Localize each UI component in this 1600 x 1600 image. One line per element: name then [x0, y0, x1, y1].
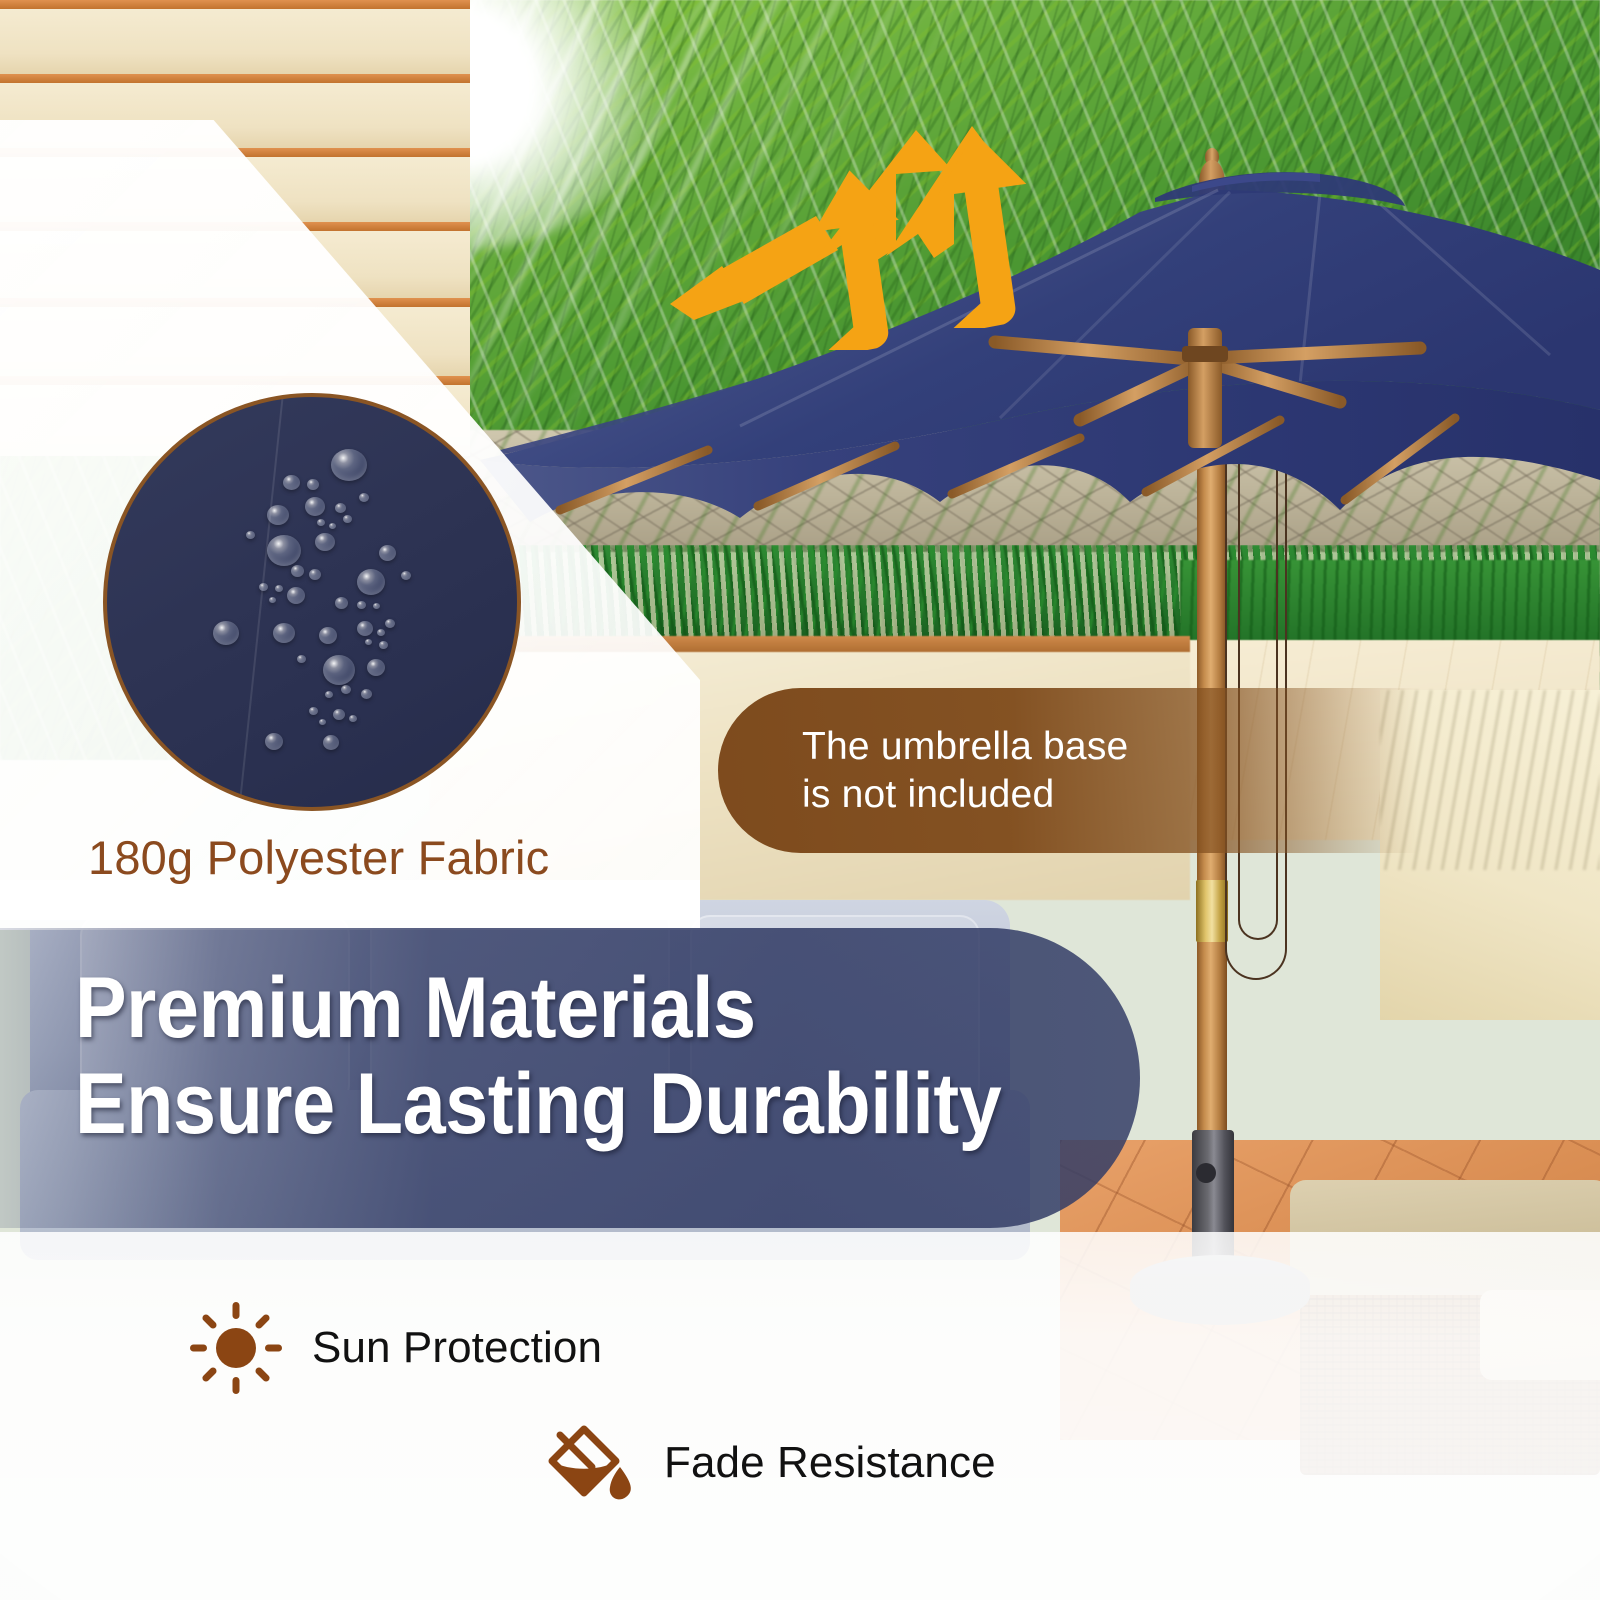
fabric-detail-circle [103, 393, 521, 811]
fabric-badge-caption: 180g Polyester Fabric [88, 830, 549, 885]
feature-sun-protection: Sun Protection [188, 1300, 602, 1396]
feature-label-fade-resistance: Fade Resistance [664, 1438, 996, 1488]
base-not-included-text: The umbrella base is not included [802, 723, 1128, 818]
sun-icon [188, 1300, 284, 1396]
base-not-included-callout: The umbrella base is not included [718, 688, 1418, 853]
umbrella-base-knob [1196, 1163, 1216, 1183]
paint-bucket-drop-icon [540, 1415, 636, 1511]
white-strip [0, 880, 700, 930]
product-marketing-image: 180g Polyester Fabric The umbrella base … [0, 0, 1600, 1600]
feature-label-sun-protection: Sun Protection [312, 1323, 602, 1373]
umbrella-pole-collar [1196, 880, 1228, 942]
page-title: Premium Materials Ensure Lasting Durabil… [75, 960, 1029, 1153]
uv-arrow-up-left [700, 140, 920, 350]
feature-fade-resistance: Fade Resistance [540, 1415, 996, 1511]
